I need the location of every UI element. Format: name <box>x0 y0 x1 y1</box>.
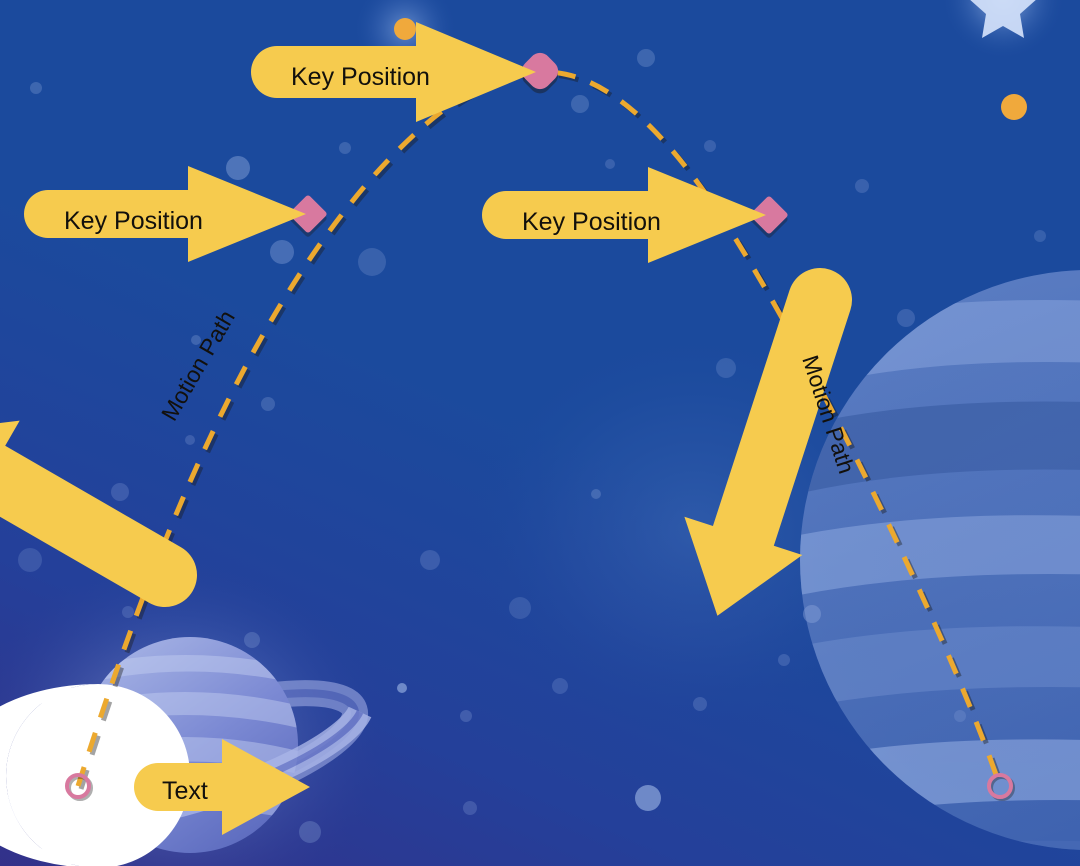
motion-path-right-arrow[interactable] <box>658 250 888 635</box>
key-position-right-arrow[interactable] <box>482 167 766 263</box>
key-position-left-arrow[interactable] <box>24 166 306 262</box>
text-callout-arrow[interactable] <box>134 739 310 835</box>
key-position-top-arrow[interactable] <box>251 22 536 122</box>
motion-path-left-arrow[interactable] <box>0 380 223 644</box>
space-infographic-canvas: Key Position Key Position Key Position T… <box>0 0 1080 866</box>
callout-arrows-layer <box>0 0 1080 866</box>
